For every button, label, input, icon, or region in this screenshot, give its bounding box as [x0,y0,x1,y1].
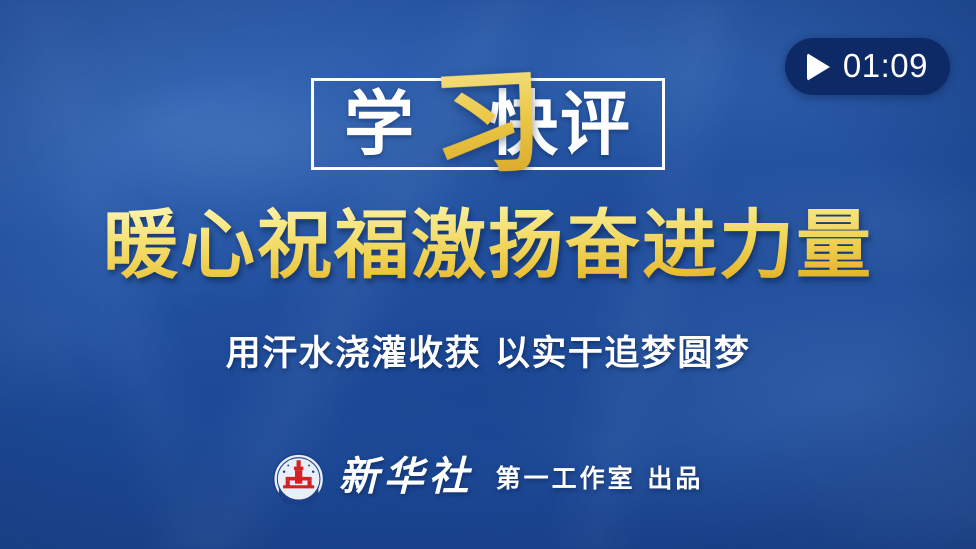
svg-text:XINHUA: XINHUA [284,489,314,495]
program-logo-char-1: 学 [344,89,416,159]
program-logo-char-4: 评 [560,89,632,159]
headline-title: 暖心祝福激扬奋进力量 [0,203,976,287]
studio-credit-label: 第一工作室 出品 [496,466,704,493]
play-duration-badge[interactable]: 01:09 [785,38,950,95]
video-duration-label: 01:09 [843,49,928,84]
subtitle-text: 用汗水浇灌收获 以实干追梦圆梦 [0,333,976,375]
video-thumbnail[interactable]: 01:09 学 习 快 评 习 暖心祝福激扬奋进力量 用汗水浇灌收获 以实干追梦… [0,0,976,549]
play-icon[interactable] [807,53,830,81]
footer-branding: XINHUA 新华社 第一工作室 出品 [273,453,704,505]
xinhua-emblem-icon: XINHUA [273,453,325,505]
xinhua-brand-name: 新华社 [339,457,474,501]
program-logo-highlight-char: 习 [429,65,547,183]
program-logo: 学 习 快 评 习 [311,78,665,170]
